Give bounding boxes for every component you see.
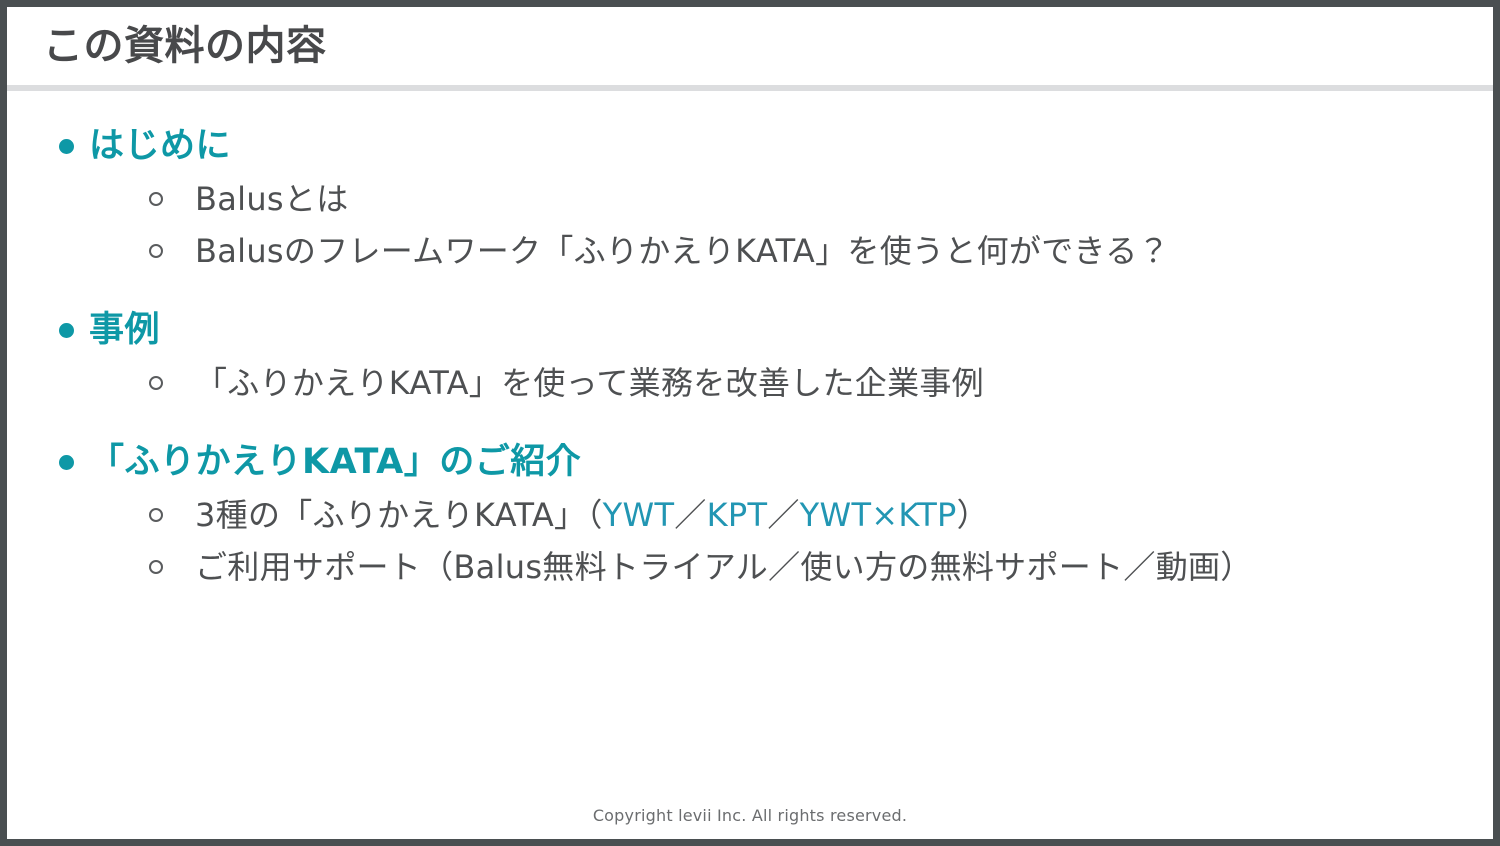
filled-bullet-icon (53, 439, 89, 485)
list-item: Balusとは (53, 177, 1463, 221)
slide: この資料の内容 はじめに Balusとは Balusのフレームワーク「ふりかえり… (0, 0, 1500, 846)
filled-bullet-icon (53, 307, 89, 353)
list-item-label: Balusとは (195, 177, 349, 221)
section-heading: はじめに (89, 123, 231, 169)
list-item-label: Balusのフレームワーク「ふりかえりKATA」を使うと何ができる？ (195, 229, 1170, 273)
section-heading-row: 事例 (53, 307, 1463, 353)
slide-body: はじめに Balusとは Balusのフレームワーク「ふりかえりKATA」を使う… (7, 103, 1493, 769)
title-divider (7, 85, 1493, 91)
hollow-bullet-icon (53, 493, 195, 537)
section-heading: 「ふりかえりKATA」のご紹介 (89, 439, 581, 485)
hollow-bullet-icon (53, 229, 195, 273)
hollow-bullet-icon (53, 545, 195, 589)
kata-name-kpt: KPT (707, 496, 768, 534)
section-group: はじめに Balusとは Balusのフレームワーク「ふりかえりKATA」を使う… (53, 123, 1463, 273)
list-item-label: 3種の「ふりかえりKATA」（YWT／KPT／YWT×KTP） (195, 493, 989, 537)
list-item: Balusのフレームワーク「ふりかえりKATA」を使うと何ができる？ (53, 229, 1463, 273)
section-group: 事例 「ふりかえりKATA」を使って業務を改善した企業事例 (53, 307, 1463, 405)
section-heading-row: 「ふりかえりKATA」のご紹介 (53, 439, 1463, 485)
list-item: 3種の「ふりかえりKATA」（YWT／KPT／YWT×KTP） (53, 493, 1463, 537)
hollow-bullet-icon (53, 177, 195, 221)
filled-bullet-icon (53, 123, 89, 169)
copyright-text: Copyright levii Inc. All rights reserved… (593, 806, 907, 825)
list-item: 「ふりかえりKATA」を使って業務を改善した企業事例 (53, 361, 1463, 405)
kata-name-ywt: YWT (603, 496, 675, 534)
list-item-label: ご利用サポート（Balus無料トライアル／使い方の無料サポート／動画） (195, 545, 1253, 589)
list-item-label: 「ふりかえりKATA」を使って業務を改善した企業事例 (195, 361, 984, 405)
list-item: ご利用サポート（Balus無料トライアル／使い方の無料サポート／動画） (53, 545, 1463, 589)
kata-name-ywt-ktp: YWT×KTP (800, 496, 957, 534)
slide-footer: Copyright levii Inc. All rights reserved… (7, 806, 1493, 825)
section-heading: 事例 (89, 307, 160, 353)
section-group: 「ふりかえりKATA」のご紹介 3種の「ふりかえりKATA」（YWT／KPT／Y… (53, 439, 1463, 589)
hollow-bullet-icon (53, 361, 195, 405)
page-title: この資料の内容 (43, 26, 327, 66)
slide-header: この資料の内容 (7, 7, 1493, 85)
section-heading-row: はじめに (53, 123, 1463, 169)
